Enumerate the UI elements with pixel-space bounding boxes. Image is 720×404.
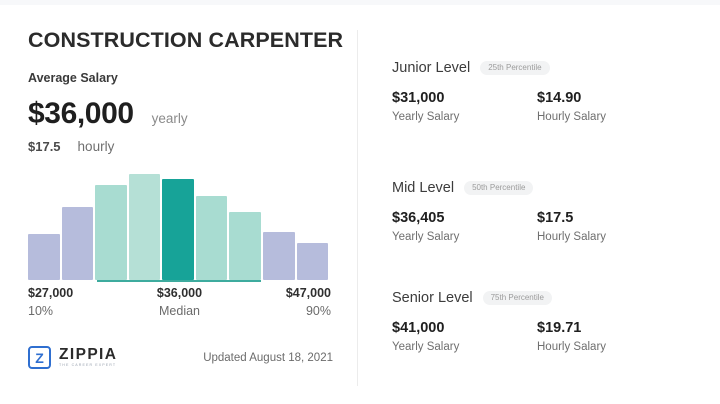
level-mid-yearly-value: $36,405 bbox=[392, 210, 537, 226]
level-mid-hourly: $17.5 Hourly Salary bbox=[537, 210, 682, 243]
level-mid-yearly-label: Yearly Salary bbox=[392, 231, 537, 243]
level-junior-columns: $31,000 Yearly Salary $14.90 Hourly Sala… bbox=[392, 90, 702, 123]
chart-bar bbox=[263, 232, 295, 280]
right-panel: Junior Level 25th Percentile $31,000 Yea… bbox=[357, 0, 720, 404]
level-mid-yearly: $36,405 Yearly Salary bbox=[392, 210, 537, 243]
average-yearly-value: $36,000 bbox=[28, 97, 134, 131]
average-salary-hourly-row: $17.5 hourly bbox=[28, 139, 114, 154]
average-yearly-unit: yearly bbox=[152, 111, 188, 126]
average-hourly-value: $17.5 bbox=[28, 139, 61, 154]
salary-distribution-chart bbox=[28, 170, 328, 280]
axis-tick-low-sub: 10% bbox=[28, 304, 73, 318]
level-junior-yearly: $31,000 Yearly Salary bbox=[392, 90, 537, 123]
zippia-logo[interactable]: Z ZIPPIA THE CAREER EXPERT bbox=[28, 346, 117, 369]
level-mid-percentile-badge: 50th Percentile bbox=[464, 181, 533, 195]
chart-bar-median bbox=[162, 179, 194, 280]
axis-tick-high: $47,000 90% bbox=[286, 286, 331, 318]
updated-date: Updated August 18, 2021 bbox=[203, 352, 333, 364]
level-senior-hourly-value: $19.71 bbox=[537, 320, 682, 336]
zippia-logo-icon: Z bbox=[28, 346, 51, 369]
footer: Z ZIPPIA THE CAREER EXPERT Updated Augus… bbox=[28, 346, 333, 376]
axis-tick-high-sub: 90% bbox=[306, 304, 331, 318]
chart-bars bbox=[28, 170, 328, 280]
level-mid-name: Mid Level bbox=[392, 180, 454, 196]
chart-bar bbox=[28, 234, 60, 280]
level-senior-name: Senior Level bbox=[392, 290, 473, 306]
level-junior-yearly-value: $31,000 bbox=[392, 90, 537, 106]
level-junior-percentile-badge: 25th Percentile bbox=[480, 61, 549, 75]
axis-tick-median-sub: Median bbox=[159, 304, 200, 318]
chart-bar bbox=[297, 243, 329, 280]
axis-tick-low-value: $27,000 bbox=[28, 286, 73, 300]
zippia-logo-text: ZIPPIA THE CAREER EXPERT bbox=[59, 347, 117, 368]
average-salary-yearly-row: $36,000 yearly bbox=[28, 97, 188, 131]
axis-tick-median-value: $36,000 bbox=[157, 286, 202, 300]
axis-tick-median: $36,000 Median bbox=[157, 286, 202, 318]
level-senior-yearly: $41,000 Yearly Salary bbox=[392, 320, 537, 353]
zippia-logo-letter: Z bbox=[35, 351, 44, 365]
chart-bar bbox=[229, 212, 261, 280]
level-senior-yearly-label: Yearly Salary bbox=[392, 341, 537, 353]
axis-tick-high-value: $47,000 bbox=[286, 286, 331, 300]
level-mid-columns: $36,405 Yearly Salary $17.5 Hourly Salar… bbox=[392, 210, 702, 243]
level-junior-hourly-value: $14.90 bbox=[537, 90, 682, 106]
average-salary-label: Average Salary bbox=[28, 71, 118, 85]
salary-infographic: CONSTRUCTION CARPENTER Average Salary $3… bbox=[0, 0, 720, 404]
axis-tick-low: $27,000 10% bbox=[28, 286, 73, 318]
level-junior-name: Junior Level bbox=[392, 60, 470, 76]
average-hourly-unit: hourly bbox=[78, 139, 115, 154]
level-senior-columns: $41,000 Yearly Salary $19.71 Hourly Sala… bbox=[392, 320, 702, 353]
left-panel: CONSTRUCTION CARPENTER Average Salary $3… bbox=[0, 0, 357, 404]
level-senior-hourly-label: Hourly Salary bbox=[537, 341, 682, 353]
chart-bar bbox=[62, 207, 94, 280]
level-senior-yearly-value: $41,000 bbox=[392, 320, 537, 336]
level-senior-hourly: $19.71 Hourly Salary bbox=[537, 320, 682, 353]
level-junior-header: Junior Level 25th Percentile bbox=[392, 60, 702, 76]
chart-bar bbox=[129, 174, 161, 280]
level-mid-header: Mid Level 50th Percentile bbox=[392, 180, 702, 196]
level-senior-percentile-badge: 75th Percentile bbox=[483, 291, 552, 305]
level-mid-hourly-value: $17.5 bbox=[537, 210, 682, 226]
chart-bar bbox=[95, 185, 127, 280]
level-block-senior: Senior Level 75th Percentile $41,000 Yea… bbox=[392, 290, 702, 353]
page-title: CONSTRUCTION CARPENTER bbox=[28, 28, 343, 53]
chart-teal-baseline bbox=[97, 280, 261, 282]
zippia-wordmark: ZIPPIA bbox=[59, 347, 117, 363]
level-mid-hourly-label: Hourly Salary bbox=[537, 231, 682, 243]
level-senior-header: Senior Level 75th Percentile bbox=[392, 290, 702, 306]
level-junior-yearly-label: Yearly Salary bbox=[392, 111, 537, 123]
level-junior-hourly-label: Hourly Salary bbox=[537, 111, 682, 123]
chart-bar bbox=[196, 196, 228, 280]
level-block-mid: Mid Level 50th Percentile $36,405 Yearly… bbox=[392, 180, 702, 243]
zippia-tagline: THE CAREER EXPERT bbox=[59, 364, 117, 368]
level-junior-hourly: $14.90 Hourly Salary bbox=[537, 90, 682, 123]
chart-axis-labels: $27,000 10% $36,000 Median $47,000 90% bbox=[28, 286, 331, 324]
level-block-junior: Junior Level 25th Percentile $31,000 Yea… bbox=[392, 60, 702, 123]
